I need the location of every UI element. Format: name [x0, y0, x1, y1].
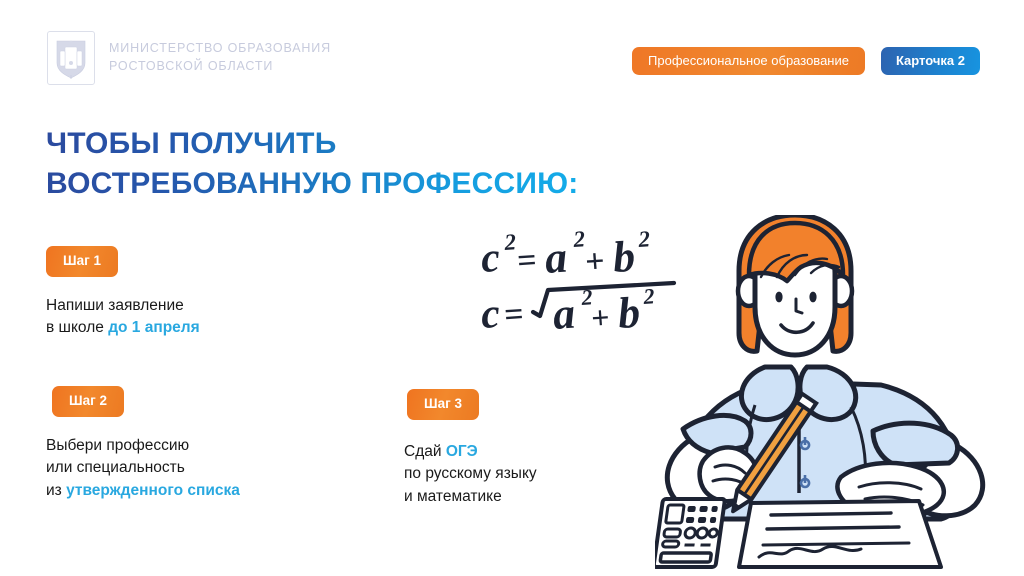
- svg-text:=: =: [516, 242, 538, 280]
- svg-text:2: 2: [637, 228, 651, 252]
- step-1-text: Напиши заявление в школе до 1 апреля: [46, 295, 200, 340]
- svg-text:b: b: [611, 232, 636, 282]
- badge-category[interactable]: Профессиональное образование: [632, 47, 865, 75]
- step-3-line2: по русскому языку: [404, 463, 537, 485]
- svg-text:=: =: [503, 296, 525, 334]
- coat-of-arms-icon: [47, 31, 95, 85]
- step-2-line3: из утвержденного списка: [46, 480, 240, 502]
- step-2-line1: Выбери профессию: [46, 435, 240, 457]
- step-2-chip: Шаг 2: [52, 386, 124, 417]
- calculator-icon: [655, 499, 725, 567]
- svg-text:a: a: [551, 289, 576, 339]
- svg-text:2: 2: [503, 229, 517, 255]
- eye-left: [775, 292, 782, 303]
- svg-text:2: 2: [642, 283, 656, 309]
- badge-card-number[interactable]: Карточка 2: [881, 47, 980, 75]
- step-1-line2: в школе до 1 апреля: [46, 317, 200, 339]
- girl-writing-illustration: [655, 215, 1015, 570]
- eye-right: [809, 292, 816, 303]
- step-3-line1: Сдай ОГЭ: [404, 441, 537, 463]
- step-1-highlight: до 1 апреля: [108, 319, 200, 336]
- step-3-chip: Шаг 3: [407, 389, 479, 420]
- ministry-name: МИНИСТЕРСТВО ОБРАЗОВАНИЯ РОСТОВСКОЙ ОБЛА…: [109, 40, 331, 76]
- step-1-chip: Шаг 1: [46, 246, 118, 277]
- step-3-line3: и математике: [404, 486, 537, 508]
- step-3-text: Сдай ОГЭ по русскому языку и математике: [404, 441, 537, 508]
- ministry-name-line2: РОСТОВСКОЙ ОБЛАСТИ: [109, 58, 331, 76]
- svg-text:+: +: [590, 299, 611, 336]
- paper-sheet: [739, 501, 941, 567]
- badge-group: Профессиональное образование Карточка 2: [632, 47, 980, 75]
- step-2-highlight: утвержденного списка: [66, 482, 240, 499]
- page-title-line2: ВОСТРЕБОВАННУЮ ПРОФЕССИЮ:: [46, 164, 578, 204]
- step-2-line2: или специальность: [46, 457, 240, 479]
- page-title-line1: ЧТОБЫ ПОЛУЧИТЬ: [46, 124, 578, 164]
- ministry-name-line1: МИНИСТЕРСТВО ОБРАЗОВАНИЯ: [109, 41, 331, 55]
- ministry-logo-block: МИНИСТЕРСТВО ОБРАЗОВАНИЯ РОСТОВСКОЙ ОБЛА…: [47, 31, 331, 85]
- page-title: ЧТОБЫ ПОЛУЧИТЬ ВОСТРЕБОВАННУЮ ПРОФЕССИЮ:: [46, 124, 578, 204]
- step-2-text: Выбери профессию или специальность из ут…: [46, 435, 240, 502]
- sleeve-right: [873, 423, 958, 465]
- svg-text:c: c: [479, 291, 501, 338]
- svg-text:b: b: [616, 288, 641, 338]
- step-3-highlight: ОГЭ: [446, 443, 478, 460]
- svg-text:+: +: [584, 243, 606, 281]
- step-1-line1: Напиши заявление: [46, 295, 200, 317]
- svg-text:c: c: [479, 235, 501, 282]
- svg-text:a: a: [543, 233, 568, 283]
